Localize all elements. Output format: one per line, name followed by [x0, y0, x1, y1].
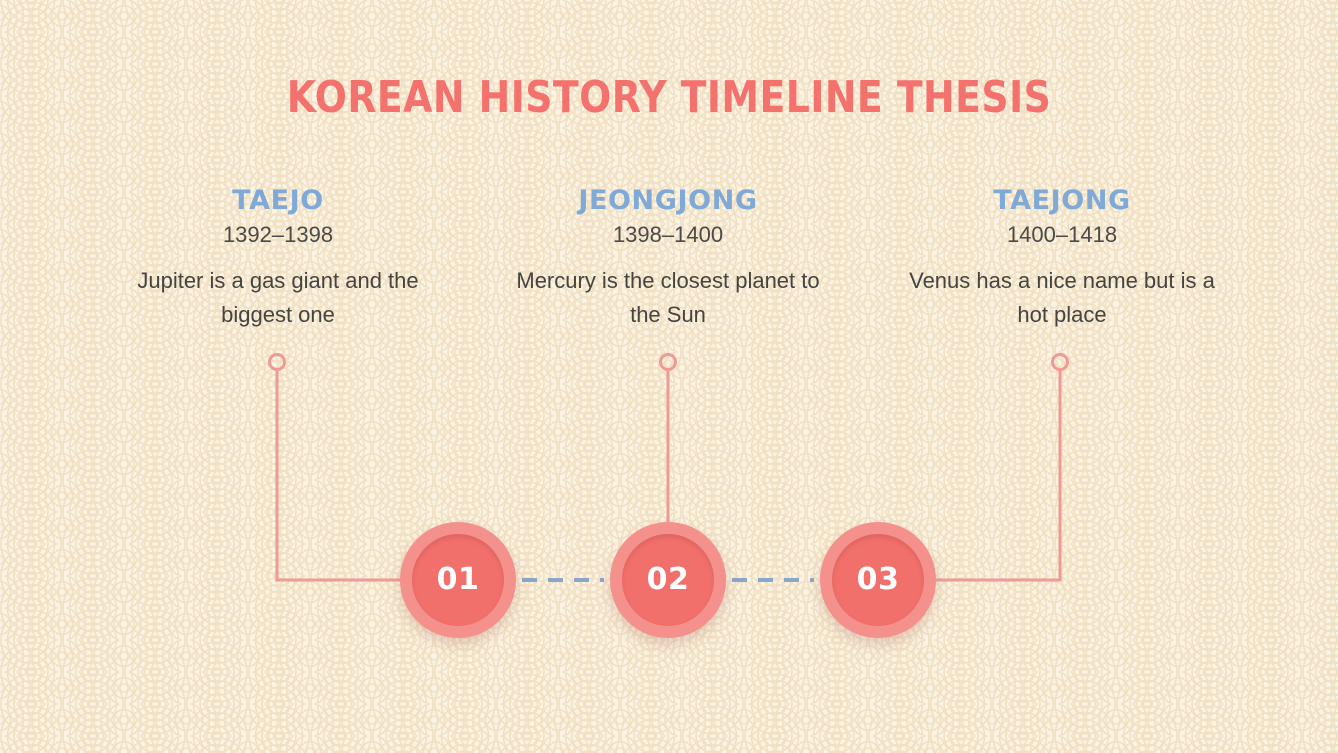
- timeline-node-3[interactable]: 03: [820, 522, 936, 638]
- timeline-description-3: Venus has a nice name but is a hot place: [902, 264, 1222, 332]
- slide-title: KOREAN HISTORY TIMELINE THESIS: [94, 72, 1245, 123]
- slide-canvas: KOREAN HISTORY TIMELINE THESIS TAEJO 139…: [0, 0, 1338, 753]
- timeline-column-3: TAEJONG 1400–1418 Venus has a nice name …: [902, 186, 1222, 332]
- timeline-node-3-number: 03: [857, 565, 900, 595]
- timeline-name-1: TAEJO: [118, 186, 438, 216]
- timeline-node-1-inner: 01: [412, 534, 504, 626]
- timeline-years-1: 1392–1398: [118, 222, 438, 248]
- timeline-column-1: TAEJO 1392–1398 Jupiter is a gas giant a…: [118, 186, 438, 332]
- timeline-node-3-inner: 03: [832, 534, 924, 626]
- timeline-node-2-inner: 02: [622, 534, 714, 626]
- timeline-node-1-number: 01: [437, 565, 480, 595]
- timeline-node-2-number: 02: [647, 565, 690, 595]
- timeline-years-2: 1398–1400: [508, 222, 828, 248]
- timeline-column-2: JEONGJONG 1398–1400 Mercury is the close…: [508, 186, 828, 332]
- connector-branch-2: [661, 355, 676, 525]
- connector-branch-1: [270, 355, 405, 581]
- timeline-node-1[interactable]: 01: [400, 522, 516, 638]
- timeline-node-2[interactable]: 02: [610, 522, 726, 638]
- timeline-description-1: Jupiter is a gas giant and the biggest o…: [118, 264, 438, 332]
- timeline-description-2: Mercury is the closest planet to the Sun: [508, 264, 828, 332]
- connector-branch-3: [932, 355, 1068, 581]
- timeline-name-3: TAEJONG: [902, 186, 1222, 216]
- timeline-years-3: 1400–1418: [902, 222, 1222, 248]
- timeline-name-2: JEONGJONG: [508, 186, 828, 216]
